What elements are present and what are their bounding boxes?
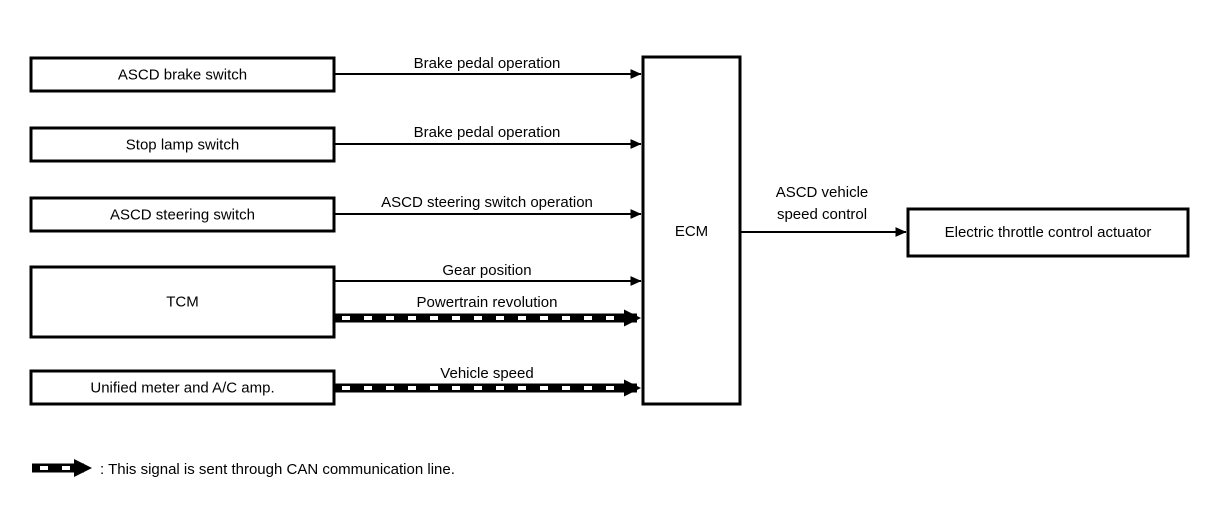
signal-label-brake-pedal-operation-2: Brake pedal operation xyxy=(414,124,561,141)
signal-label-ascd-vehicle-speed-control-line2: speed control xyxy=(777,206,867,223)
legend-label: : This signal is sent through CAN commun… xyxy=(100,461,455,478)
legend-icon-arrowhead xyxy=(74,459,92,477)
signal-label-brake-pedal-operation-1: Brake pedal operation xyxy=(414,55,561,72)
signal-arrowhead-powertrain-revolution xyxy=(624,310,641,327)
signal-label-ascd-steering-switch-operation: ASCD steering switch operation xyxy=(381,194,593,211)
signal-ascd-steering-switch-operation: ASCD steering switch operation xyxy=(334,194,641,214)
input-block-unified-meter: Unified meter and A/C amp. xyxy=(31,371,334,404)
input-label-unified-meter: Unified meter and A/C amp. xyxy=(90,379,274,396)
signal-label-gear-position: Gear position xyxy=(442,262,531,279)
input-block-tcm: TCM xyxy=(31,267,334,337)
input-block-ascd-steering-switch: ASCD steering switch xyxy=(31,198,334,231)
input-block-ascd-brake-switch: ASCD brake switch xyxy=(31,58,334,91)
input-block-stop-lamp-switch: Stop lamp switch xyxy=(31,128,334,161)
signal-label-ascd-vehicle-speed-control-line1: ASCD vehicle xyxy=(776,184,869,201)
output-label-electric-throttle-control-actuator: Electric throttle control actuator xyxy=(945,224,1152,241)
input-label-tcm: TCM xyxy=(166,293,199,310)
input-label-ascd-brake-switch: ASCD brake switch xyxy=(118,66,247,83)
controller-label-ecm: ECM xyxy=(675,223,708,240)
signal-label-powertrain-revolution: Powertrain revolution xyxy=(417,294,558,311)
signal-label-vehicle-speed: Vehicle speed xyxy=(440,365,533,382)
can-communication-arrow-icon xyxy=(32,459,92,477)
signal-ascd-vehicle-speed-control: ASCD vehicle speed control xyxy=(740,184,906,232)
legend: : This signal is sent through CAN commun… xyxy=(32,459,455,478)
output-block-electric-throttle-control-actuator: Electric throttle control actuator xyxy=(908,209,1188,256)
signal-vehicle-speed: Vehicle speed xyxy=(334,365,641,397)
input-label-ascd-steering-switch: ASCD steering switch xyxy=(110,206,255,223)
diagram-canvas: ASCD brake switch Stop lamp switch ASCD … xyxy=(0,0,1216,512)
signal-arrowhead-vehicle-speed xyxy=(624,380,641,397)
signal-powertrain-revolution: Powertrain revolution xyxy=(334,294,641,327)
signal-gear-position: Gear position xyxy=(334,262,641,281)
input-label-stop-lamp-switch: Stop lamp switch xyxy=(126,136,239,153)
signal-brake-pedal-operation-2: Brake pedal operation xyxy=(334,124,641,144)
controller-block-ecm: ECM xyxy=(643,57,740,404)
signal-brake-pedal-operation-1: Brake pedal operation xyxy=(334,55,641,74)
ascd-block-diagram: ASCD brake switch Stop lamp switch ASCD … xyxy=(0,0,1216,512)
